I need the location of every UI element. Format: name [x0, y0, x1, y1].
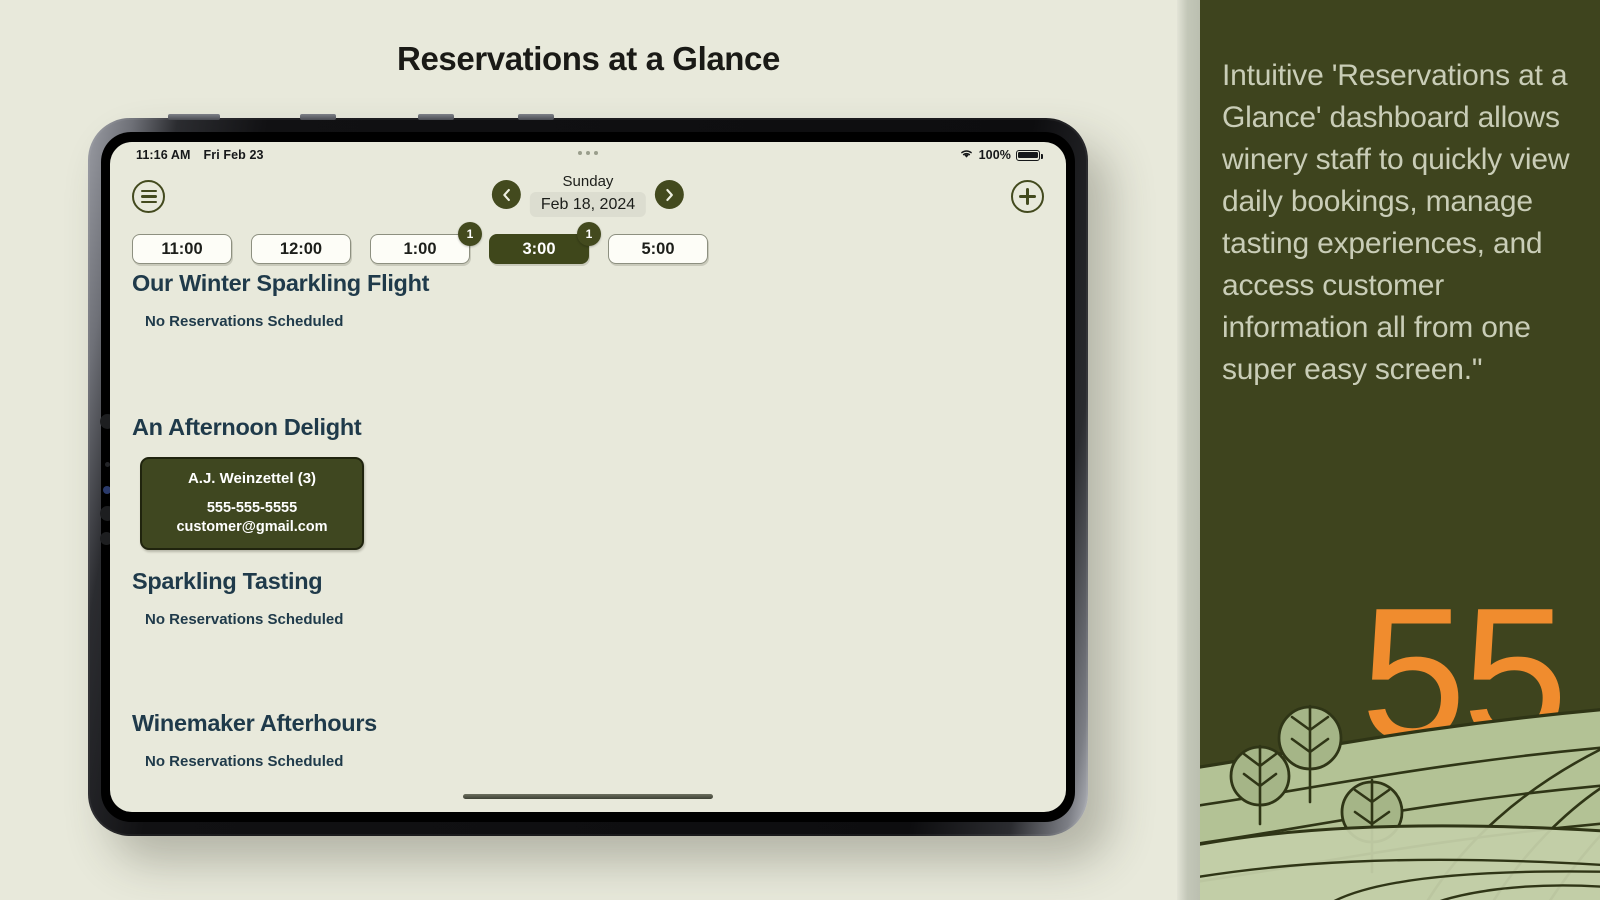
- add-reservation-button[interactable]: [1011, 180, 1044, 213]
- status-bar-time: 11:16 AM: [136, 148, 191, 162]
- reservation-email: customer@gmail.com: [152, 519, 352, 535]
- wifi-icon: [959, 148, 974, 162]
- plus-icon: [1019, 188, 1036, 205]
- time-tab-11-00[interactable]: 11:00: [132, 234, 232, 264]
- status-bar-right: 100%: [959, 148, 1040, 162]
- quote-panel: Intuitive 'Reservations at a Glance' das…: [1200, 0, 1600, 900]
- next-day-button[interactable]: [655, 180, 684, 209]
- time-slot-tabs: 11:0012:001:0013:0015:00: [132, 234, 708, 264]
- experience-sections: Our Winter Sparkling FlightNo Reservatio…: [110, 270, 1066, 812]
- reservation-card[interactable]: A.J. Weinzettel (3)555-555-5555customer@…: [140, 457, 364, 550]
- date-value-chip[interactable]: Feb 18, 2024: [530, 192, 646, 217]
- hamburger-menu-icon: [141, 190, 157, 203]
- time-tab-label: 11:00: [161, 240, 202, 259]
- time-tab-12-00[interactable]: 12:00: [251, 234, 351, 264]
- date-display: Sunday Feb 18, 2024: [530, 172, 646, 217]
- section-title: Winemaker Afterhours: [132, 710, 1044, 737]
- no-reservations-note: No Reservations Scheduled: [132, 313, 1044, 330]
- device-top-button-1: [168, 114, 220, 120]
- section-spacer: [132, 550, 1044, 558]
- experience-section: An Afternoon DelightA.J. Weinzettel (3)5…: [132, 414, 1044, 558]
- time-tab-3-00[interactable]: 3:001: [489, 234, 589, 264]
- device-top-button-4: [518, 114, 554, 120]
- section-title: Our Winter Sparkling Flight: [132, 270, 1044, 297]
- chevron-left-icon: [501, 188, 512, 202]
- time-tab-5-00[interactable]: 5:00: [608, 234, 708, 264]
- previous-day-button[interactable]: [492, 180, 521, 209]
- reservation-phone: 555-555-5555: [152, 500, 352, 516]
- ios-status-bar: 11:16 AM Fri Feb 23 100%: [110, 142, 1066, 168]
- multitasking-dots-icon[interactable]: [578, 151, 598, 155]
- time-tab-label: 5:00: [641, 240, 674, 259]
- home-indicator[interactable]: [463, 794, 713, 799]
- section-spacer: [132, 770, 1044, 812]
- hamburger-menu-button[interactable]: [132, 180, 165, 213]
- vineyard-hills-illustration: [1200, 580, 1600, 900]
- experience-section: Our Winter Sparkling FlightNo Reservatio…: [132, 270, 1044, 404]
- section-title: Sparkling Tasting: [132, 568, 1044, 595]
- battery-fill: [1018, 152, 1037, 158]
- status-bar-date: Fri Feb 23: [204, 148, 264, 162]
- reservation-guest-name: A.J. Weinzettel (3): [152, 470, 352, 487]
- section-spacer: [132, 330, 1044, 404]
- section-spacer: [132, 628, 1044, 700]
- presentation-stage: Reservations at a Glance 11:16 AM Fri Fe…: [0, 0, 1177, 900]
- section-title: An Afternoon Delight: [132, 414, 1044, 441]
- chevron-right-icon: [664, 188, 675, 202]
- time-tab-badge: 1: [577, 222, 601, 246]
- page-title: Reservations at a Glance: [0, 40, 1177, 78]
- quote-text: Intuitive 'Reservations at a Glance' das…: [1222, 55, 1578, 391]
- tablet-screen: 11:16 AM Fri Feb 23 100%: [110, 142, 1066, 812]
- tablet-device-frame: 11:16 AM Fri Feb 23 100%: [88, 118, 1088, 836]
- no-reservations-note: No Reservations Scheduled: [132, 611, 1044, 628]
- battery-full-icon: [1016, 150, 1040, 161]
- panel-divider: [1177, 0, 1200, 900]
- device-top-button-3: [418, 114, 454, 120]
- status-bar-left: 11:16 AM Fri Feb 23: [136, 148, 264, 162]
- tablet-bezel: 11:16 AM Fri Feb 23 100%: [101, 132, 1075, 822]
- device-top-button-2: [300, 114, 336, 120]
- date-navigator: Sunday Feb 18, 2024: [492, 172, 684, 217]
- time-tab-badge: 1: [458, 222, 482, 246]
- day-name-label: Sunday: [530, 172, 646, 192]
- time-tab-label: 3:00: [522, 240, 555, 259]
- battery-percent-label: 100%: [979, 148, 1011, 162]
- time-tab-label: 12:00: [280, 240, 322, 259]
- experience-section: Sparkling TastingNo Reservations Schedul…: [132, 568, 1044, 700]
- time-tab-1-00[interactable]: 1:001: [370, 234, 470, 264]
- time-tab-label: 1:00: [403, 240, 436, 259]
- no-reservations-note: No Reservations Scheduled: [132, 753, 1044, 770]
